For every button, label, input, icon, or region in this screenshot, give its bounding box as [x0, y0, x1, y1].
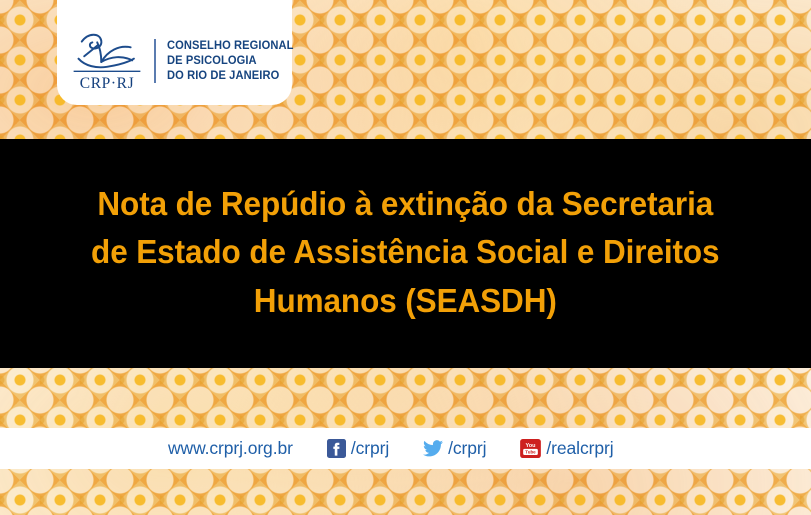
- headline-line-3: Humanos (SEASDH): [91, 278, 719, 326]
- logo-institution-name: CONSELHO REGIONAL DE PSICOLOGIA DO RIO D…: [167, 38, 294, 84]
- youtube-handle: /realcrprj: [546, 438, 613, 459]
- headline-line-2: de Estado de Assistência Social e Direit…: [91, 229, 719, 277]
- headline-band: Nota de Repúdio à extinção da Secretaria…: [0, 139, 811, 368]
- crp-rj-banner: CRP·RJ CONSELHO REGIONAL DE PSICOLOGIA D…: [0, 0, 811, 515]
- twitter-handle: /crprj: [448, 438, 486, 459]
- facebook-icon: [327, 439, 346, 458]
- logo-text-line-1: CONSELHO REGIONAL: [167, 38, 294, 53]
- svg-text:Tube: Tube: [526, 450, 537, 455]
- youtube-link[interactable]: You Tube /realcrprj: [520, 438, 613, 459]
- headline-line-1: Nota de Repúdio à extinção da Secretaria: [91, 181, 719, 229]
- logo-divider: [154, 39, 156, 83]
- logo-text-line-2: DE PSICOLOGIA: [167, 53, 294, 68]
- facebook-handle: /crprj: [351, 438, 389, 459]
- logo-lockup: CRP·RJ CONSELHO REGIONAL DE PSICOLOGIA D…: [57, 31, 299, 92]
- twitter-link[interactable]: /crprj: [423, 438, 486, 459]
- website-url[interactable]: www.crprj.org.br: [168, 438, 293, 459]
- footer-strip: www.crprj.org.br /crprj /crprj: [0, 428, 811, 469]
- crp-bird-wave-icon: CRP·RJ: [71, 31, 143, 92]
- logo-wordmark: CRP·RJ: [80, 76, 134, 92]
- svg-text:You: You: [526, 443, 536, 449]
- logo-text-line-3: DO RIO DE JANEIRO: [167, 68, 294, 83]
- youtube-icon: You Tube: [520, 439, 541, 458]
- footer-links: www.crprj.org.br /crprj /crprj: [168, 438, 614, 459]
- facebook-link[interactable]: /crprj: [327, 438, 389, 459]
- logo-card: CRP·RJ CONSELHO REGIONAL DE PSICOLOGIA D…: [57, 0, 292, 105]
- page-title: Nota de Repúdio à extinção da Secretaria…: [48, 181, 763, 326]
- twitter-icon: [423, 440, 443, 457]
